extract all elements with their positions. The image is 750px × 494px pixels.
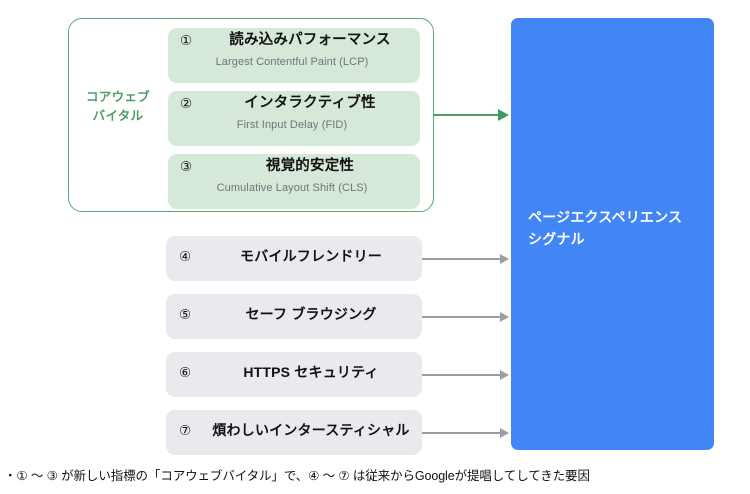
factor-card-intrusive-interstitials-number: ⑦ bbox=[179, 424, 191, 438]
factor-card-mobile-friendly-number: ④ bbox=[179, 250, 191, 264]
factor-card-safe-browsing[interactable]: ⑤ セーフ ブラウジング bbox=[166, 294, 422, 339]
factor-card-safe-browsing-number: ⑤ bbox=[179, 308, 191, 322]
metric-card-lcp-subtitle: Largest Contentful Paint (LCP) bbox=[168, 56, 416, 68]
metric-card-fid-number: ② bbox=[180, 97, 192, 111]
connector-line-https-security bbox=[422, 374, 502, 376]
arrowhead-intrusive-interstitials bbox=[500, 428, 509, 438]
arrowhead-mobile-friendly bbox=[500, 254, 509, 264]
factor-card-https-security-number: ⑥ bbox=[179, 366, 191, 380]
factor-card-mobile-friendly-title: モバイルフレンドリー bbox=[206, 248, 416, 266]
metric-card-lcp-title: 読み込みパフォーマンス bbox=[208, 32, 412, 49]
page-experience-signal-line-1: ページエクスペリエンス bbox=[528, 207, 708, 229]
page-experience-signal-label: ページエクスペリエンス シグナル bbox=[528, 207, 708, 250]
metric-card-lcp[interactable]: ① 読み込みパフォーマンス Largest Contentful Paint (… bbox=[168, 28, 420, 83]
connector-line-core-web-vitals bbox=[434, 114, 502, 116]
diagram-caption: ・① ～ ③ が新しい指標の「コアウェブバイタル」で、④ ～ ⑦ は従来からGo… bbox=[4, 468, 748, 484]
metric-card-cls[interactable]: ③ 視覚的安定性 Cumulative Layout Shift (CLS) bbox=[168, 154, 420, 209]
factor-card-https-security[interactable]: ⑥ HTTPS セキュリティ bbox=[166, 352, 422, 397]
arrowhead-core-web-vitals bbox=[498, 109, 509, 121]
factor-card-mobile-friendly[interactable]: ④ モバイルフレンドリー bbox=[166, 236, 422, 281]
factor-card-https-security-title: HTTPS セキュリティ bbox=[206, 364, 416, 382]
metric-card-fid-title: インタラクティブ性 bbox=[208, 95, 412, 112]
core-web-vitals-label-line-2: バイタル bbox=[72, 107, 164, 126]
arrowhead-https-security bbox=[500, 370, 509, 380]
factor-card-intrusive-interstitials-title: 煩わしいインタースティシャル bbox=[206, 422, 416, 440]
factor-card-intrusive-interstitials[interactable]: ⑦ 煩わしいインタースティシャル bbox=[166, 410, 422, 455]
metric-card-fid[interactable]: ② インタラクティブ性 First Input Delay (FID) bbox=[168, 91, 420, 146]
metric-card-cls-number: ③ bbox=[180, 160, 192, 174]
core-web-vitals-group-label: コアウェブ バイタル bbox=[72, 88, 164, 126]
diagram-canvas: コアウェブ バイタル ① 読み込みパフォーマンス Largest Content… bbox=[0, 0, 750, 494]
connector-line-safe-browsing bbox=[422, 316, 502, 318]
metric-card-cls-title: 視覚的安定性 bbox=[208, 158, 412, 175]
connector-line-mobile-friendly bbox=[422, 258, 502, 260]
connector-line-intrusive-interstitials bbox=[422, 432, 502, 434]
core-web-vitals-label-line-1: コアウェブ bbox=[72, 88, 164, 107]
page-experience-signal-line-2: シグナル bbox=[528, 229, 708, 251]
metric-card-lcp-number: ① bbox=[180, 34, 192, 48]
factor-card-safe-browsing-title: セーフ ブラウジング bbox=[206, 306, 416, 324]
metric-card-cls-subtitle: Cumulative Layout Shift (CLS) bbox=[168, 182, 416, 194]
metric-card-fid-subtitle: First Input Delay (FID) bbox=[168, 119, 416, 131]
arrowhead-safe-browsing bbox=[500, 312, 509, 322]
